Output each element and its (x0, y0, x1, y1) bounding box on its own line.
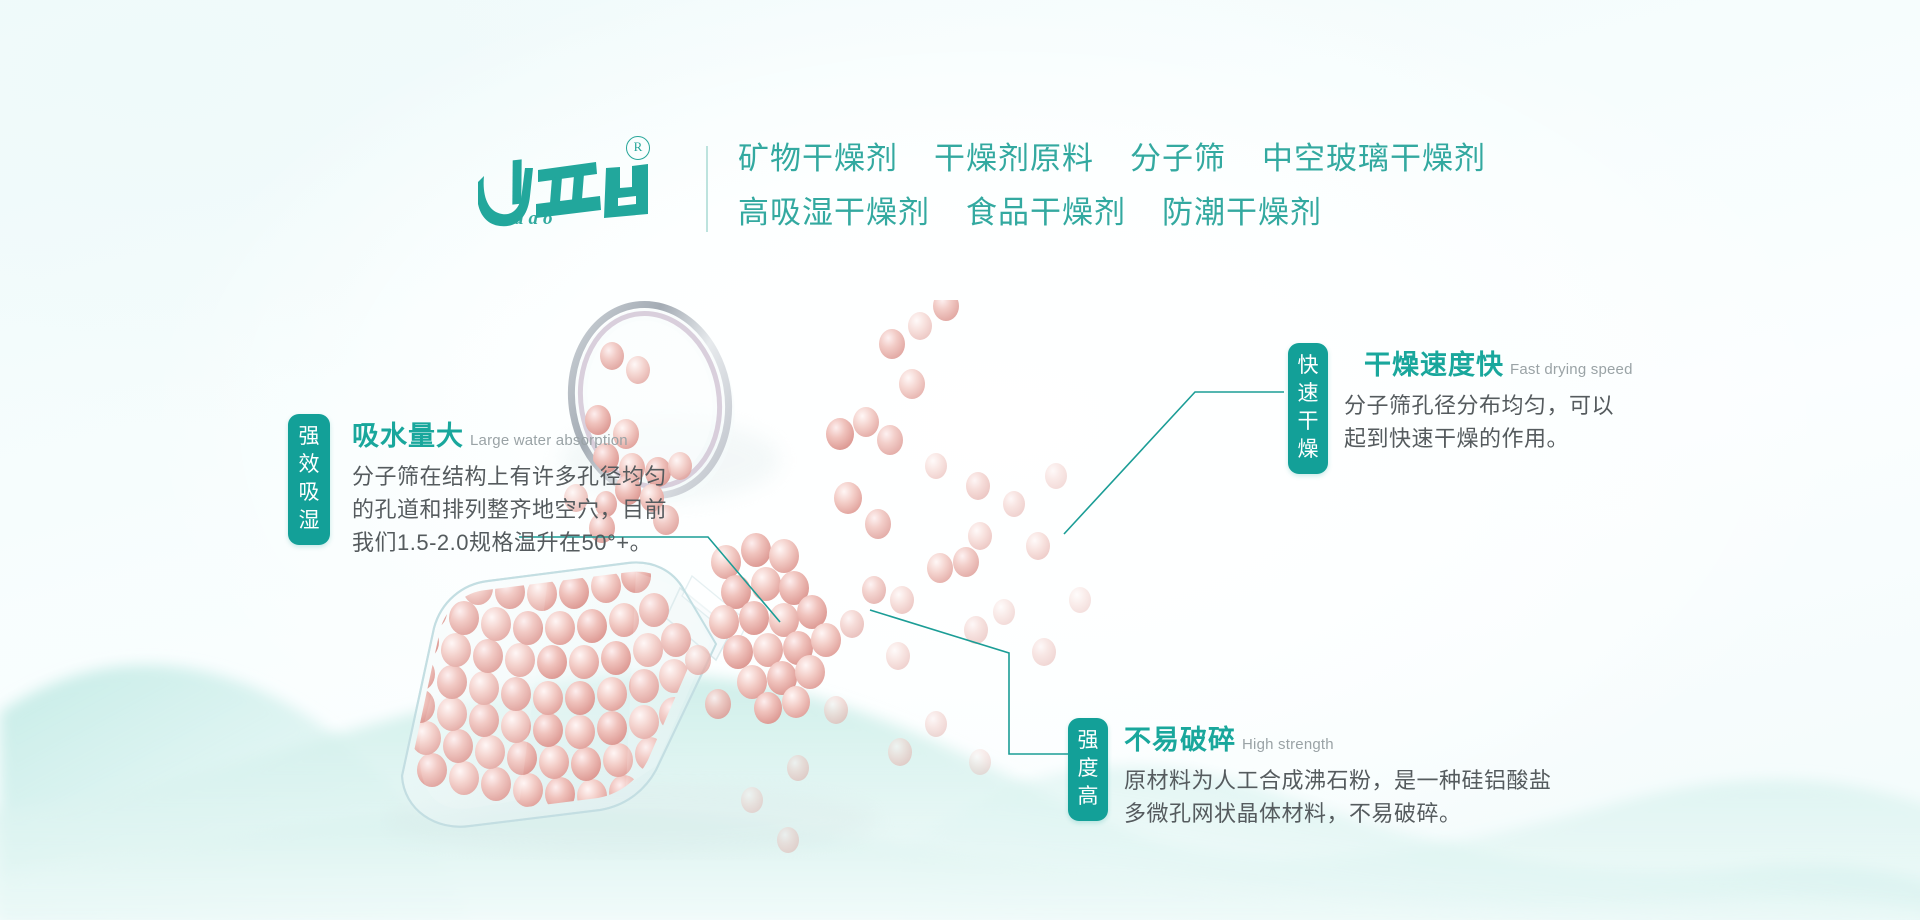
callout-subtitle: Fast drying speed (1510, 361, 1633, 378)
product-nav-row-1: 矿物干燥剂 干燥剂原料 分子筛 中空玻璃干燥剂 (738, 134, 1522, 184)
tag-char: 效 (288, 451, 330, 479)
banner-stage: R aao 矿物干燥剂 (0, 0, 1920, 920)
callout-body: 原材料为人工合成沸石粉，是一种硅铝酸盐 多微孔网状晶体材料，不易破碎。 (1124, 764, 1552, 830)
callout-body: 分子筛孔径分布均匀，可以 起到快速干燥的作用。 (1344, 389, 1633, 455)
callout-text-block: 干燥速度快 Fast drying speed 分子筛孔径分布均匀，可以 起到快… (1344, 343, 1633, 455)
nav-item-insulating-glass-desiccant[interactable]: 中空玻璃干燥剂 (1262, 134, 1486, 184)
nav-item-high-moisture-desiccant[interactable]: 高吸湿干燥剂 (738, 188, 930, 238)
callout-fast-drying-speed: 快 速 干 燥 干燥速度快 Fast drying speed 分子筛孔径分布均… (1288, 343, 1633, 474)
tag-char: 强 (288, 423, 330, 451)
callout-text-block: 吸水量大 Large water absorption 分子筛在结构上有许多孔径… (346, 414, 667, 559)
callout-tag-strong-absorption: 强 效 吸 湿 (288, 414, 330, 545)
nav-item-moisture-proof-desiccant[interactable]: 防潮干燥剂 (1162, 188, 1322, 238)
callout-subtitle: High strength (1242, 736, 1334, 753)
callout-high-strength: 强 度 高 不易破碎 High strength 原材料为人工合成沸石粉，是一种… (1068, 718, 1552, 830)
nav-item-desiccant-material[interactable]: 干燥剂原料 (934, 134, 1094, 184)
tag-char: 燥 (1288, 436, 1328, 464)
product-nav-row-2: 高吸湿干燥剂 食品干燥剂 防潮干燥剂 (738, 188, 1522, 238)
header-divider (706, 146, 708, 232)
brand-logo[interactable]: R aao (478, 130, 678, 240)
callout-title: 干燥速度快 (1364, 343, 1504, 382)
callout-title-row: 吸水量大 Large water absorption (346, 414, 667, 453)
tag-char: 强 (1068, 727, 1108, 755)
tag-char: 速 (1288, 380, 1328, 408)
site-header: R aao 矿物干燥剂 (0, 128, 1920, 244)
nav-item-mineral-desiccant[interactable]: 矿物干燥剂 (738, 134, 898, 184)
callout-text-block: 不易破碎 High strength 原材料为人工合成沸石粉，是一种硅铝酸盐 多… (1124, 718, 1552, 830)
nav-item-food-desiccant[interactable]: 食品干燥剂 (966, 188, 1126, 238)
tag-char: 快 (1288, 352, 1328, 380)
tag-char: 吸 (288, 479, 330, 507)
callout-title: 吸水量大 (352, 414, 464, 453)
tag-char: 湿 (288, 507, 330, 535)
product-nav: 矿物干燥剂 干燥剂原料 分子筛 中空玻璃干燥剂 高吸湿干燥剂 食品干燥剂 防潮干… (738, 134, 1522, 238)
tag-char: 高 (1068, 783, 1108, 811)
logo-mark-icon (478, 152, 653, 232)
callout-body: 分子筛在结构上有许多孔径均匀 的孔道和排列整齐地空穴，目前 我们1.5-2.0规… (346, 460, 667, 559)
tag-char: 度 (1068, 755, 1108, 783)
callout-large-water-absorption: 强 效 吸 湿 吸水量大 Large water absorption 分子筛在… (288, 414, 667, 559)
callout-title: 不易破碎 (1124, 718, 1236, 757)
callout-title-row: 干燥速度快 Fast drying speed (1344, 343, 1633, 382)
tag-char: 干 (1288, 408, 1328, 436)
callout-tag-fast-drying: 快 速 干 燥 (1288, 343, 1328, 474)
callout-subtitle: Large water absorption (470, 432, 628, 449)
callout-tag-high-strength: 强 度 高 (1068, 718, 1108, 821)
callout-title-row: 不易破碎 High strength (1124, 718, 1552, 757)
logo-wordmark: aao (514, 208, 558, 230)
nav-item-molecular-sieve[interactable]: 分子筛 (1130, 134, 1226, 184)
